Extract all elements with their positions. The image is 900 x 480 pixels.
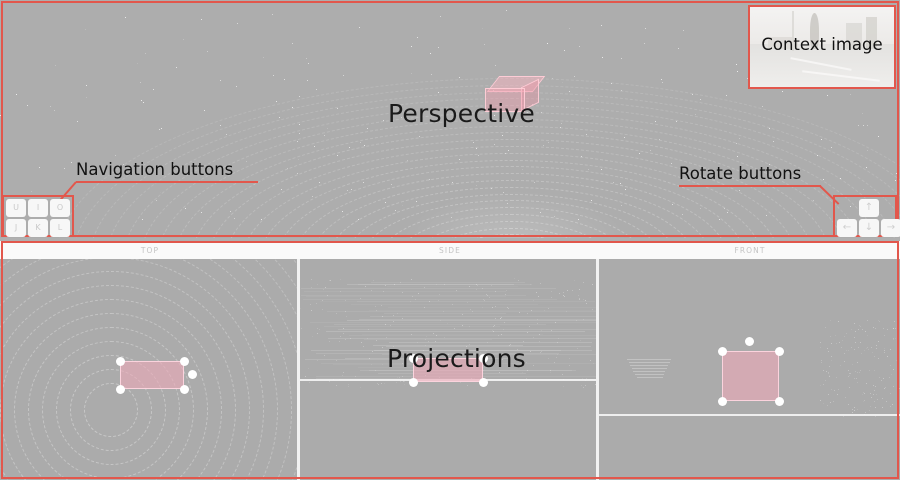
nav-key-u[interactable]: U bbox=[6, 199, 26, 217]
navigation-keypad-row-1: U I O bbox=[6, 199, 70, 217]
arrow-right-icon[interactable]: → bbox=[881, 219, 900, 237]
rotate-keypad[interactable]: ↑ ← ↓ → bbox=[837, 199, 900, 237]
annotation-outline-projections bbox=[1, 241, 899, 479]
arrow-down-icon[interactable]: ↓ bbox=[859, 219, 879, 237]
context-image-panel[interactable]: Context image bbox=[748, 5, 896, 89]
arrow-up-icon[interactable]: ↑ bbox=[859, 199, 879, 217]
nav-key-i[interactable]: I bbox=[28, 199, 48, 217]
navigation-keypad[interactable]: U I O J K L bbox=[6, 199, 70, 237]
context-image-label: Context image bbox=[750, 35, 894, 54]
nav-key-o[interactable]: O bbox=[50, 199, 70, 217]
nav-key-j[interactable]: J bbox=[6, 219, 26, 237]
nav-key-l[interactable]: L bbox=[50, 219, 70, 237]
rotate-key-spacer-left bbox=[837, 199, 857, 217]
arrow-left-icon[interactable]: ← bbox=[837, 219, 857, 237]
rotate-keypad-row-2: ← ↓ → bbox=[837, 219, 900, 237]
nav-key-k[interactable]: K bbox=[28, 219, 48, 237]
callout-navigation-buttons: Navigation buttons bbox=[76, 160, 233, 179]
rotate-key-spacer-right bbox=[881, 199, 900, 217]
annotation-tool-window: Perspective Context image Navigation but… bbox=[0, 0, 900, 480]
callout-rotate-buttons: Rotate buttons bbox=[679, 164, 801, 183]
navigation-keypad-row-2: J K L bbox=[6, 219, 70, 237]
callout-rule-rotate bbox=[679, 185, 821, 187]
rotate-keypad-row-1: ↑ bbox=[837, 199, 900, 217]
callout-rule-navigation bbox=[76, 181, 258, 183]
